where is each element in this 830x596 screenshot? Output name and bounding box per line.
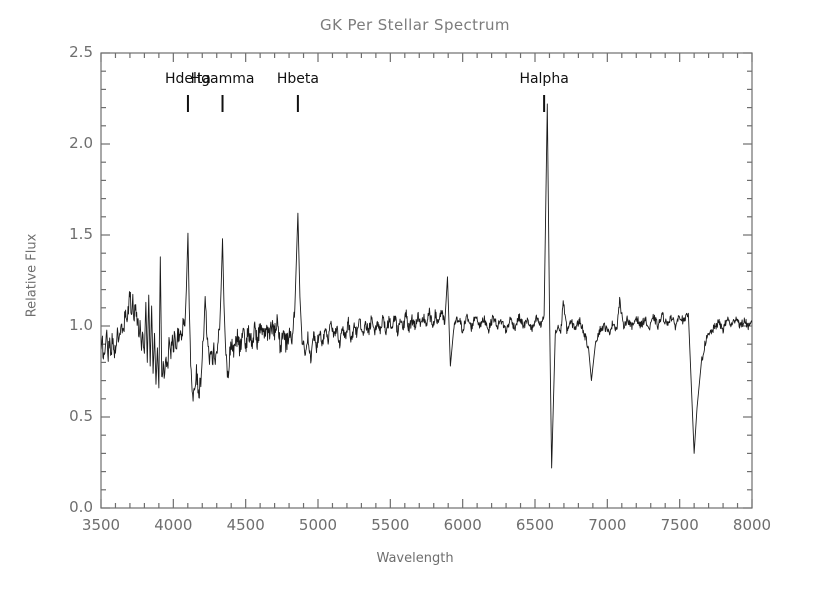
axis-ticks <box>101 53 752 508</box>
x-tick-label: 4500 <box>211 516 281 534</box>
x-tick-label: 5000 <box>283 516 353 534</box>
x-tick-label: 3500 <box>66 516 136 534</box>
annotation-label-halpha: Halpha <box>519 71 568 87</box>
spectrum-trace <box>101 104 752 468</box>
spectrum-plot <box>0 0 830 596</box>
annotation-ticks <box>188 95 544 112</box>
y-tick-label: 0.5 <box>33 407 93 425</box>
y-tick-label: 2.0 <box>33 134 93 152</box>
y-tick-label: 0.0 <box>33 498 93 516</box>
x-tick-label: 4000 <box>138 516 208 534</box>
x-axis-label: Wavelength <box>0 551 830 566</box>
x-tick-label: 8000 <box>717 516 787 534</box>
x-tick-label: 6500 <box>500 516 570 534</box>
y-axis-label: Relative Flux <box>25 196 40 356</box>
x-tick-label: 5500 <box>355 516 425 534</box>
y-tick-label: 2.5 <box>33 43 93 61</box>
annotation-label-hbeta: Hbeta <box>277 71 319 87</box>
x-tick-label: 6000 <box>428 516 498 534</box>
x-tick-label: 7000 <box>572 516 642 534</box>
y-tick-label: 1.0 <box>33 316 93 334</box>
annotation-label-hgamma: Hgamma <box>191 71 255 87</box>
x-tick-label: 7500 <box>645 516 715 534</box>
y-tick-label: 1.5 <box>33 225 93 243</box>
spectrum-figure: GK Per Stellar Spectrum 3500400045005000… <box>0 0 830 596</box>
plot-frame <box>101 53 752 508</box>
